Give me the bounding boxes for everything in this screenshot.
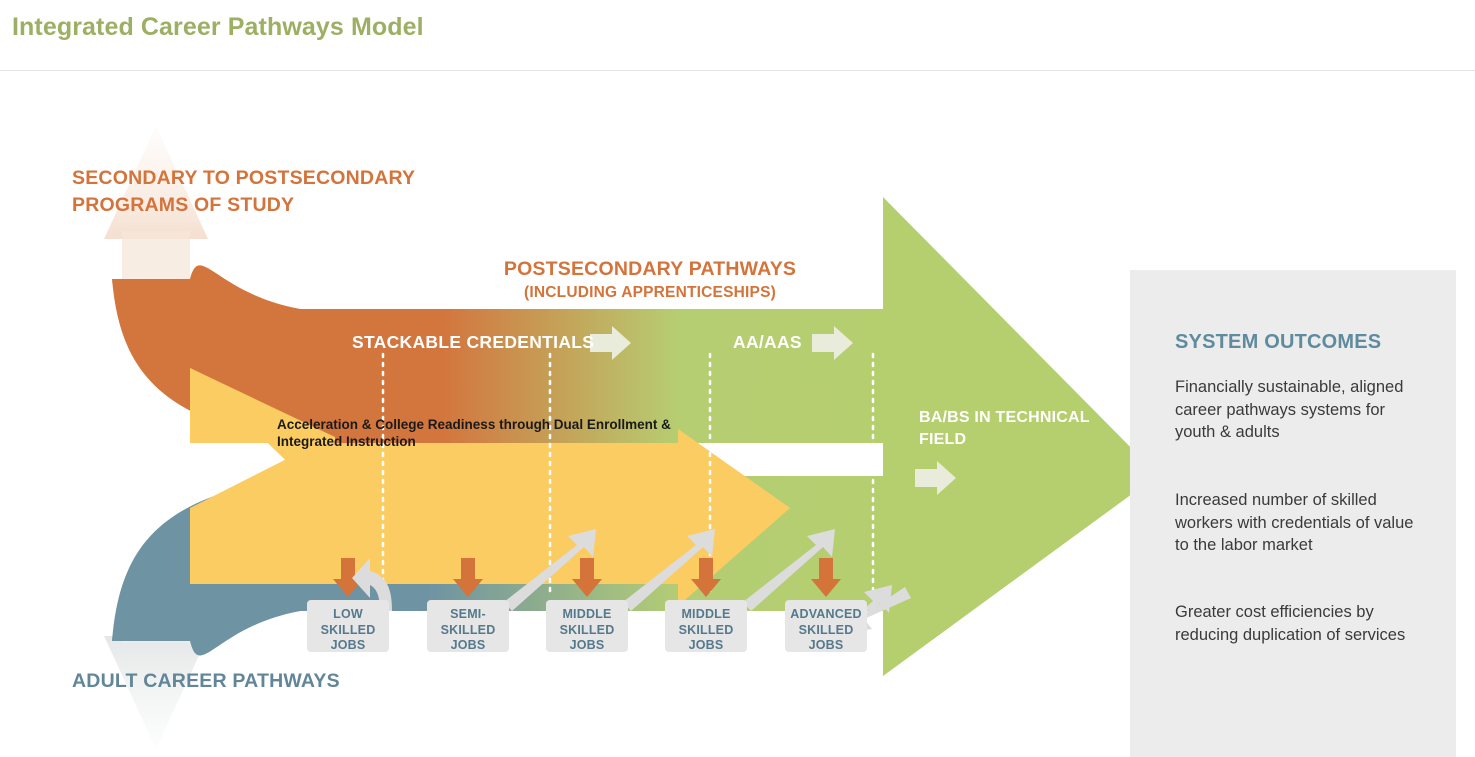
system-outcomes-panel: SYSTEM OUTCOMES Financially sustainable,…	[1130, 270, 1456, 757]
job-box-line: MIDDLE	[665, 607, 747, 623]
secondary-feeder-ghost-stem	[122, 231, 190, 281]
middle-skilled-jobs-1[interactable]: MIDDLESKILLEDJOBS	[546, 600, 628, 652]
career-pathways-infographic: Integrated Career Pathways Model	[0, 0, 1475, 752]
acceleration-instruction-label: Acceleration & College Readiness through…	[277, 416, 707, 450]
job-box-line: SEMI-	[427, 607, 509, 623]
job-box-line: JOBS	[785, 638, 867, 654]
job-box-line: MIDDLE	[546, 607, 628, 623]
outcome-item: Increased number of skilled workers with…	[1175, 489, 1415, 557]
page-title: Integrated Career Pathways Model	[12, 13, 424, 42]
job-box-line: SKILLED	[546, 623, 628, 639]
postsecondary-subtitle: (INCLUDING APPRENTICESHIPS)	[440, 281, 860, 305]
semi-skilled-jobs[interactable]: SEMI-SKILLEDJOBS	[427, 600, 509, 652]
system-outcomes-title: SYSTEM OUTCOMES	[1175, 331, 1381, 354]
job-box-line: SKILLED	[307, 623, 389, 639]
diagram-stage: SECONDARY TO POSTSECONDARY PROGRAMS OF S…	[0, 71, 1475, 752]
job-box-line: JOBS	[307, 638, 389, 654]
low-skilled-jobs[interactable]: LOWSKILLEDJOBS	[307, 600, 389, 652]
job-box-line: JOBS	[665, 638, 747, 654]
job-box-line: ADVANCED	[785, 607, 867, 623]
outcome-item: Financially sustainable, aligned career …	[1175, 376, 1415, 444]
postsecondary-pathways-heading: POSTSECONDARY PATHWAYS (INCLUDING APPREN…	[440, 257, 860, 305]
advanced-skilled-jobs[interactable]: ADVANCEDSKILLEDJOBS	[785, 600, 867, 652]
job-box-line: SKILLED	[665, 623, 747, 639]
ba-bs-technical-field-label: BA/BS IN TECHNICAL FIELD	[919, 407, 1119, 451]
middle-skilled-jobs-2[interactable]: MIDDLESKILLEDJOBS	[665, 600, 747, 652]
job-box-line: JOBS	[546, 638, 628, 654]
page-header: Integrated Career Pathways Model	[0, 0, 1475, 71]
stackable-credentials-label: STACKABLE CREDENTIALS	[352, 332, 594, 353]
postsecondary-title: POSTSECONDARY PATHWAYS	[440, 257, 860, 281]
adult-pathways-label: ADULT CAREER PATHWAYS	[72, 668, 372, 695]
job-box-line: SKILLED	[785, 623, 867, 639]
aa-aas-label: AA/AAS	[733, 332, 802, 353]
outcome-item: Greater cost efficiencies by reducing du…	[1175, 601, 1415, 646]
secondary-pathways-label: SECONDARY TO POSTSECONDARY PROGRAMS OF S…	[72, 165, 492, 219]
job-box-line: LOW	[307, 607, 389, 623]
job-box-line: JOBS	[427, 638, 509, 654]
job-box-line: SKILLED	[427, 623, 509, 639]
